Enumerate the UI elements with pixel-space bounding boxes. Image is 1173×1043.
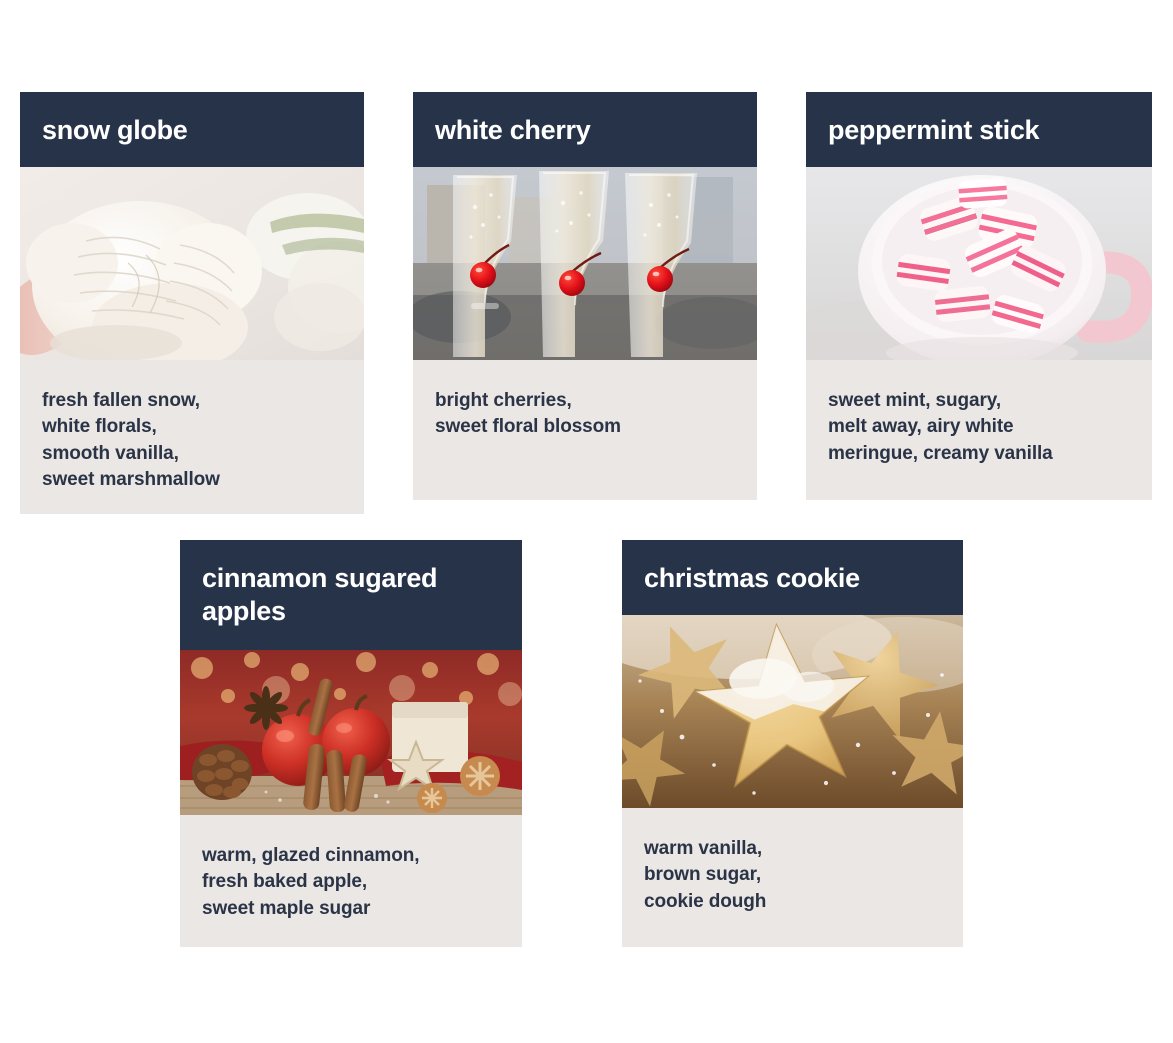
card-title: cinnamon sugared apples <box>202 562 500 628</box>
card-notes: fresh fallen snow, white florals, smooth… <box>42 388 342 494</box>
card-body: fresh fallen snow, white florals, smooth… <box>20 360 364 514</box>
card-photo-snow-globe <box>20 167 364 360</box>
card-peppermint-stick[interactable]: peppermint stick <box>806 92 1152 500</box>
card-cinnamon-sugared-apples[interactable]: cinnamon sugared apples <box>180 540 522 947</box>
card-notes: warm vanilla, brown sugar, cookie dough <box>644 836 941 915</box>
card-white-cherry[interactable]: white cherry <box>413 92 757 500</box>
card-photo-peppermint-stick <box>806 167 1152 360</box>
card-notes: sweet mint, sugary, melt away, airy whit… <box>828 388 1130 467</box>
scent-card-board: snow globe <box>0 0 1173 1043</box>
card-header: peppermint stick <box>806 92 1152 167</box>
card-header: snow globe <box>20 92 364 167</box>
card-title: white cherry <box>435 114 735 147</box>
card-notes: warm, glazed cinnamon, fresh baked apple… <box>202 843 500 922</box>
card-title: christmas cookie <box>644 562 941 595</box>
card-photo-cinnamon-sugared-apples <box>180 650 522 815</box>
card-body: warm vanilla, brown sugar, cookie dough <box>622 808 963 947</box>
card-title: peppermint stick <box>828 114 1130 147</box>
card-title: snow globe <box>42 114 342 147</box>
card-photo-white-cherry <box>413 167 757 360</box>
card-body: warm, glazed cinnamon, fresh baked apple… <box>180 815 522 947</box>
card-snow-globe[interactable]: snow globe <box>20 92 364 500</box>
card-christmas-cookie[interactable]: christmas cookie <box>622 540 963 947</box>
card-header: christmas cookie <box>622 540 963 615</box>
card-header: white cherry <box>413 92 757 167</box>
card-photo-christmas-cookie <box>622 615 963 808</box>
card-header: cinnamon sugared apples <box>180 540 522 650</box>
card-body: bright cherries, sweet floral blossom <box>413 360 757 500</box>
card-notes: bright cherries, sweet floral blossom <box>435 388 735 441</box>
card-body: sweet mint, sugary, melt away, airy whit… <box>806 360 1152 500</box>
